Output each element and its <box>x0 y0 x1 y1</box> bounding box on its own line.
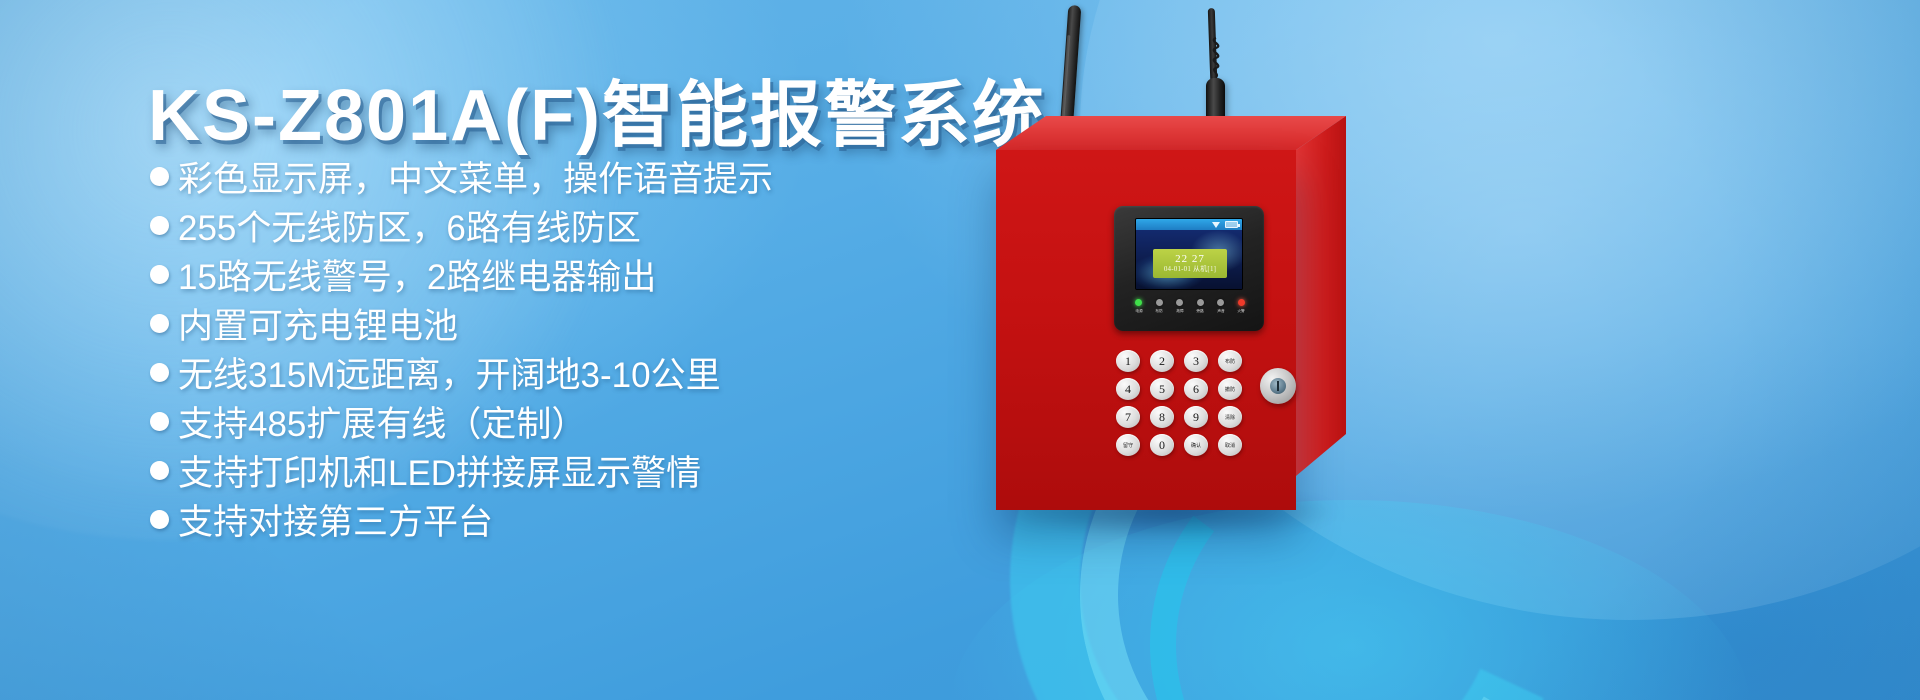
lcd-date-status: 04-01-01 从机[1] <box>1164 265 1216 274</box>
alarm-panel-product-image: 22 27 04-01-01 从机[1] 电源 布防 <box>960 0 1920 700</box>
feature-item: 支持打印机和LED拼接屏显示警情 <box>150 446 773 494</box>
feature-label: 内置可充电锂电池 <box>178 298 458 349</box>
key-stay[interactable]: 留守 <box>1116 434 1140 456</box>
key-clear[interactable]: 清除 <box>1218 406 1242 428</box>
key-confirm[interactable]: 确认 <box>1184 434 1208 456</box>
led-indicator: 故障 <box>1171 299 1188 314</box>
led-sound-icon <box>1217 299 1224 306</box>
led-label: 布防 <box>1155 308 1162 314</box>
key-6[interactable]: 6 <box>1184 378 1208 400</box>
feature-item: 支持对接第三方平台 <box>150 495 773 543</box>
key-1[interactable]: 1 <box>1116 350 1140 372</box>
copy-column: KS-Z801A(F)智能报警系统 彩色显示屏，中文菜单，操作语音提示 255个… <box>0 0 1000 700</box>
bullet-icon <box>150 510 169 529</box>
bullet-icon <box>150 167 169 186</box>
led-indicator: 电源 <box>1130 299 1147 314</box>
led-label: 火警 <box>1238 308 1245 314</box>
key-2[interactable]: 2 <box>1150 350 1174 372</box>
key-disarm[interactable]: 撤防 <box>1218 378 1242 400</box>
lcd-display: 22 27 04-01-01 从机[1] <box>1135 218 1243 290</box>
feature-label: 支持485扩展有线（定制） <box>178 396 586 447</box>
antenna-coil-icon <box>1206 36 1226 78</box>
bullet-icon <box>150 461 169 480</box>
feature-label: 彩色显示屏，中文菜单，操作语音提示 <box>178 151 773 202</box>
feature-label: 无线315M远距离，开阔地3-10公里 <box>178 347 721 398</box>
feature-item: 支持485扩展有线（定制） <box>150 397 773 445</box>
enclosure-front-face: 22 27 04-01-01 从机[1] 电源 布防 <box>996 150 1296 510</box>
led-label: 旁路 <box>1197 308 1204 314</box>
led-power-icon <box>1135 299 1142 306</box>
key-4[interactable]: 4 <box>1116 378 1140 400</box>
enclosure-side-face <box>1296 116 1346 476</box>
cabinet-lock-icon[interactable] <box>1260 368 1296 404</box>
led-arm-icon <box>1156 299 1163 306</box>
product-title: KS-Z801A(F)智能报警系统 <box>148 56 1046 161</box>
led-fault-icon <box>1176 299 1183 306</box>
led-label: 电源 <box>1135 308 1142 314</box>
led-indicator: 火警 <box>1233 299 1250 314</box>
key-arm[interactable]: 布防 <box>1218 350 1242 372</box>
key-0[interactable]: 0 <box>1150 434 1174 456</box>
bullet-icon <box>150 216 169 235</box>
led-indicator: 旁路 <box>1192 299 1209 314</box>
feature-list: 彩色显示屏，中文菜单，操作语音提示 255个无线防区，6路有线防区 15路无线警… <box>150 152 773 544</box>
lcd-status-bar <box>1136 219 1242 230</box>
lcd-info-box: 22 27 04-01-01 从机[1] <box>1153 249 1227 278</box>
bullet-icon <box>150 412 169 431</box>
control-faceplate: 22 27 04-01-01 从机[1] 电源 布防 <box>1114 206 1264 331</box>
feature-label: 15路无线警号，2路继电器输出 <box>178 249 656 300</box>
promo-banner: KS-Z801A(F)智能报警系统 彩色显示屏，中文菜单，操作语音提示 255个… <box>0 0 1920 700</box>
key-cancel[interactable]: 取消 <box>1218 434 1242 456</box>
lcd-time: 22 27 <box>1175 253 1205 265</box>
bullet-icon <box>150 265 169 284</box>
led-label: 声音 <box>1217 308 1224 314</box>
feature-item: 无线315M远距离，开阔地3-10公里 <box>150 348 773 396</box>
feature-item: 255个无线防区，6路有线防区 <box>150 201 773 249</box>
bullet-icon <box>150 314 169 333</box>
led-bypass-icon <box>1197 299 1204 306</box>
feature-label: 支持对接第三方平台 <box>178 494 493 545</box>
led-fire-icon <box>1238 299 1245 306</box>
key-7[interactable]: 7 <box>1116 406 1140 428</box>
led-label: 故障 <box>1176 308 1183 314</box>
feature-label: 支持打印机和LED拼接屏显示警情 <box>178 445 701 496</box>
feature-item: 内置可充电锂电池 <box>150 299 773 347</box>
feature-item: 15路无线警号，2路继电器输出 <box>150 250 773 298</box>
led-indicator: 布防 <box>1151 299 1168 314</box>
led-indicator: 声音 <box>1212 299 1229 314</box>
bullet-icon <box>150 363 169 382</box>
signal-icon <box>1212 222 1220 228</box>
lock-keyhole <box>1270 378 1286 394</box>
battery-icon <box>1225 221 1238 228</box>
key-8[interactable]: 8 <box>1150 406 1174 428</box>
led-indicator-row: 电源 布防 故障 旁路 <box>1130 299 1250 314</box>
feature-item: 彩色显示屏，中文菜单，操作语音提示 <box>150 152 773 200</box>
keypad[interactable]: 1 2 3 布防 4 5 6 撤防 7 8 9 清除 留守 0 确认 取消 <box>1116 350 1248 460</box>
key-5[interactable]: 5 <box>1150 378 1174 400</box>
feature-label: 255个无线防区，6路有线防区 <box>178 200 641 251</box>
key-3[interactable]: 3 <box>1184 350 1208 372</box>
key-9[interactable]: 9 <box>1184 406 1208 428</box>
lcd-wallpaper: 22 27 04-01-01 从机[1] <box>1136 230 1242 290</box>
